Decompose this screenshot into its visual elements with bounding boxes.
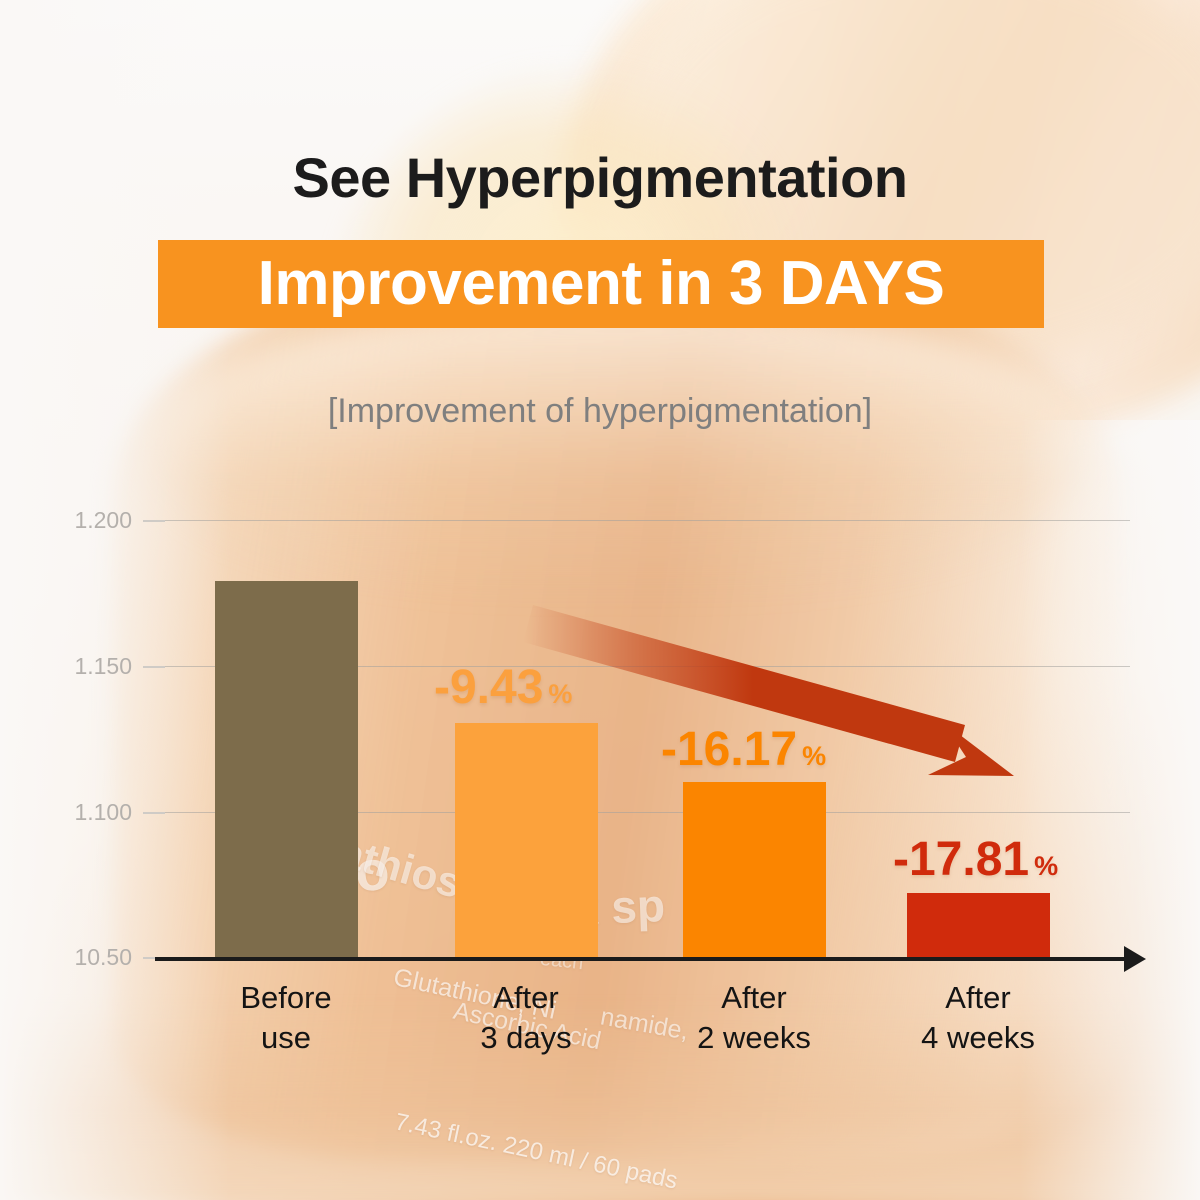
bar-after-4-weeks: [907, 893, 1050, 958]
bar-rect-3: [907, 893, 1050, 958]
xlabel-before-use: Before use: [176, 978, 396, 1057]
bar-after-3-days: [455, 723, 598, 958]
data-label-percent-3: %: [1034, 851, 1058, 881]
bar-before-use: [215, 581, 358, 958]
ytick-label-1050: 10.50: [40, 944, 132, 971]
promo-graphic: o rk sp tathios Glutathione, Ni Ascorbic…: [0, 0, 1200, 1200]
xlabel-after-3-days-line1: After: [416, 978, 636, 1018]
data-label-after-4-weeks: -17.81%: [893, 832, 1058, 887]
ytick-dash-1200: [143, 520, 165, 522]
xlabel-before-use-line1: Before: [176, 978, 396, 1018]
data-label-value-2: -16.17: [661, 723, 797, 776]
xlabel-after-2-weeks-line1: After: [644, 978, 864, 1018]
data-label-percent-1: %: [548, 679, 572, 709]
xlabel-after-3-days: After 3 days: [416, 978, 636, 1057]
gridline-1200: [155, 520, 1130, 521]
ytick-dash-1100: [143, 812, 165, 814]
data-label-percent-2: %: [802, 741, 826, 771]
bar-chart: 1.200 1.150 1.100 10.50 -9.43% -16.17%: [0, 0, 1200, 1200]
data-label-value-1: -9.43: [434, 661, 543, 714]
ytick-label-1100: 1.100: [40, 799, 132, 826]
xlabel-after-2-weeks: After 2 weeks: [644, 978, 864, 1057]
data-label-after-3-days: -9.43%: [434, 660, 572, 715]
xlabel-after-3-days-line2: 3 days: [416, 1018, 636, 1058]
xlabel-before-use-line2: use: [176, 1018, 396, 1058]
xlabel-after-2-weeks-line2: 2 weeks: [644, 1018, 864, 1058]
data-label-value-3: -17.81: [893, 833, 1029, 886]
bar-rect-0: [215, 581, 358, 958]
xlabel-after-4-weeks-line2: 4 weeks: [868, 1018, 1088, 1058]
x-axis-arrow-icon: [1124, 946, 1146, 972]
bar-rect-1: [455, 723, 598, 958]
ytick-label-1200: 1.200: [40, 507, 132, 534]
ytick-label-1150: 1.150: [40, 653, 132, 680]
bar-rect-2: [683, 782, 826, 958]
xlabel-after-4-weeks-line1: After: [868, 978, 1088, 1018]
xlabel-after-4-weeks: After 4 weeks: [868, 978, 1088, 1057]
data-label-after-2-weeks: -16.17%: [661, 722, 826, 777]
x-axis-line: [155, 957, 1130, 961]
bar-after-2-weeks: [683, 782, 826, 958]
ytick-dash-1150: [143, 666, 165, 668]
